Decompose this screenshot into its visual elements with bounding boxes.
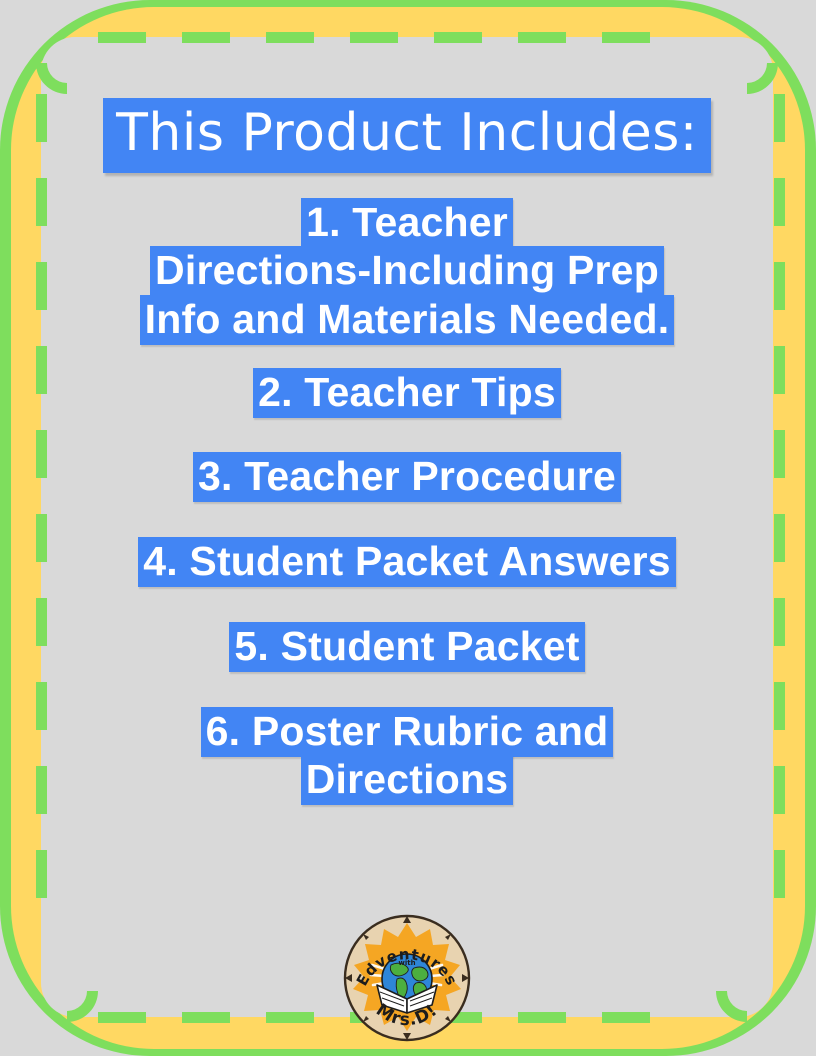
brand-logo: Edventures with Mrs.D! — [342, 913, 472, 1043]
list-item-text: 2. Teacher Tips — [253, 368, 561, 418]
border-dash — [774, 766, 785, 814]
border-dash — [774, 850, 785, 898]
list-item-text: Directions-Including Prep — [150, 246, 664, 296]
list-item: 1. TeacherDirections-Including PrepInfo … — [41, 199, 773, 343]
border-dash — [774, 346, 785, 394]
list-item-text: Info and Materials Needed. — [140, 295, 675, 345]
list-item: 6. Poster Rubric andDirections — [41, 708, 773, 803]
list-item-text: Directions — [301, 755, 514, 805]
logo-middle-text: with — [398, 959, 415, 967]
border-dash — [774, 514, 785, 562]
border-dash — [774, 262, 785, 310]
list-item: 2. Teacher Tips — [41, 369, 773, 416]
list-item-line: 2. Teacher Tips — [41, 369, 773, 416]
page-title: This Product Includes: — [103, 98, 711, 173]
product-includes-list: 1. TeacherDirections-Including PrepInfo … — [41, 199, 773, 804]
border-dash — [774, 94, 785, 142]
list-item-text: 3. Teacher Procedure — [193, 452, 621, 502]
list-item-line: 3. Teacher Procedure — [41, 453, 773, 500]
list-item-line: Directions — [41, 756, 773, 803]
edventures-logo-icon: Edventures with Mrs.D! — [342, 913, 472, 1043]
list-item-text: 5. Student Packet — [229, 622, 584, 672]
border-dash — [774, 682, 785, 730]
list-item-line: 1. Teacher — [41, 199, 773, 246]
list-item-text: 4. Student Packet Answers — [138, 537, 676, 587]
list-item-line: Info and Materials Needed. — [41, 296, 773, 343]
border-dash — [774, 598, 785, 646]
list-item-text: 1. Teacher — [301, 198, 513, 248]
border-dash — [774, 178, 785, 226]
list-item-line: 6. Poster Rubric and — [41, 708, 773, 755]
title-container: This Product Includes: — [103, 98, 711, 173]
list-item: 5. Student Packet — [41, 623, 773, 670]
poster: This Product Includes: 1. TeacherDirecti… — [0, 0, 816, 1056]
border-dash — [774, 430, 785, 478]
poster-content: This Product Includes: 1. TeacherDirecti… — [41, 37, 773, 1017]
list-item-line: Directions-Including Prep — [41, 247, 773, 294]
list-item-line: 4. Student Packet Answers — [41, 538, 773, 585]
list-item-text: 6. Poster Rubric and — [201, 707, 614, 757]
list-item-line: 5. Student Packet — [41, 623, 773, 670]
list-item: 4. Student Packet Answers — [41, 538, 773, 585]
list-item: 3. Teacher Procedure — [41, 453, 773, 500]
